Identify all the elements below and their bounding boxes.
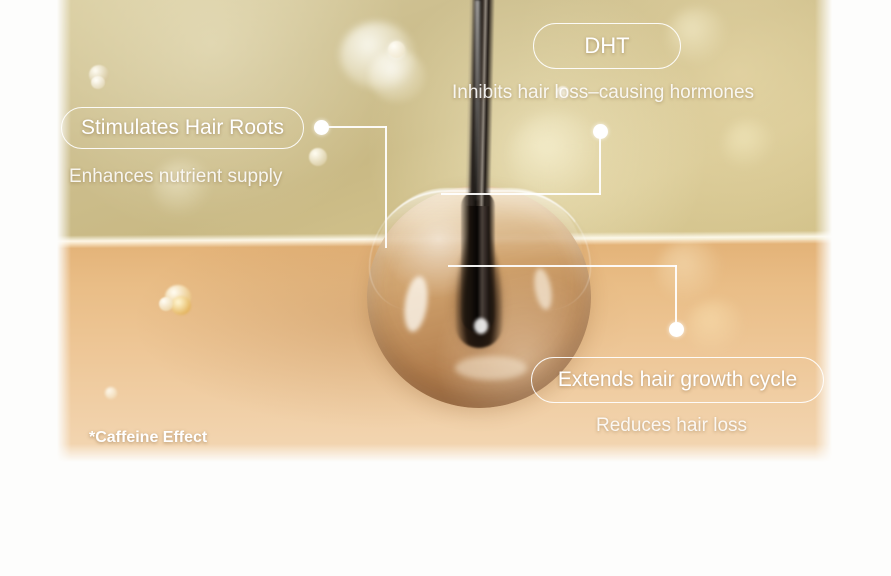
- callout-subtitle-dht: Inhibits hair loss–causing hormones: [452, 82, 754, 104]
- connector-dot-hair-roots: [314, 120, 329, 135]
- callout-subtitle-stimulates-hair-roots: Enhances nutrient supply: [69, 166, 282, 188]
- connector-line-growth-cycle: [448, 265, 677, 267]
- connector-line-dht: [599, 131, 601, 195]
- hair-root-core: [461, 192, 495, 332]
- callout-pill-extends-hair-growth-cycle[interactable]: Extends hair growth cycle: [531, 357, 824, 403]
- connector-dot-dht: [593, 124, 608, 139]
- connector-dot-growth-cycle: [669, 322, 684, 337]
- callout-subtitle-extends-hair-growth-cycle: Reduces hair loss: [596, 415, 747, 437]
- connector-line-dht: [441, 193, 601, 195]
- hair-root-tip-highlight: [474, 318, 488, 334]
- connector-line-growth-cycle: [675, 265, 677, 327]
- callout-pill-stimulates-hair-roots[interactable]: Stimulates Hair Roots: [61, 107, 304, 149]
- illustration-root: Stimulates Hair Roots Enhances nutrient …: [0, 0, 891, 576]
- connector-line-hair-roots: [327, 126, 387, 128]
- connector-line-hair-roots: [385, 126, 387, 248]
- bulb-specular-highlight: [455, 356, 527, 380]
- caffeine-effect-footnote: *Caffeine Effect: [89, 429, 207, 447]
- callout-pill-dht[interactable]: DHT: [533, 23, 681, 69]
